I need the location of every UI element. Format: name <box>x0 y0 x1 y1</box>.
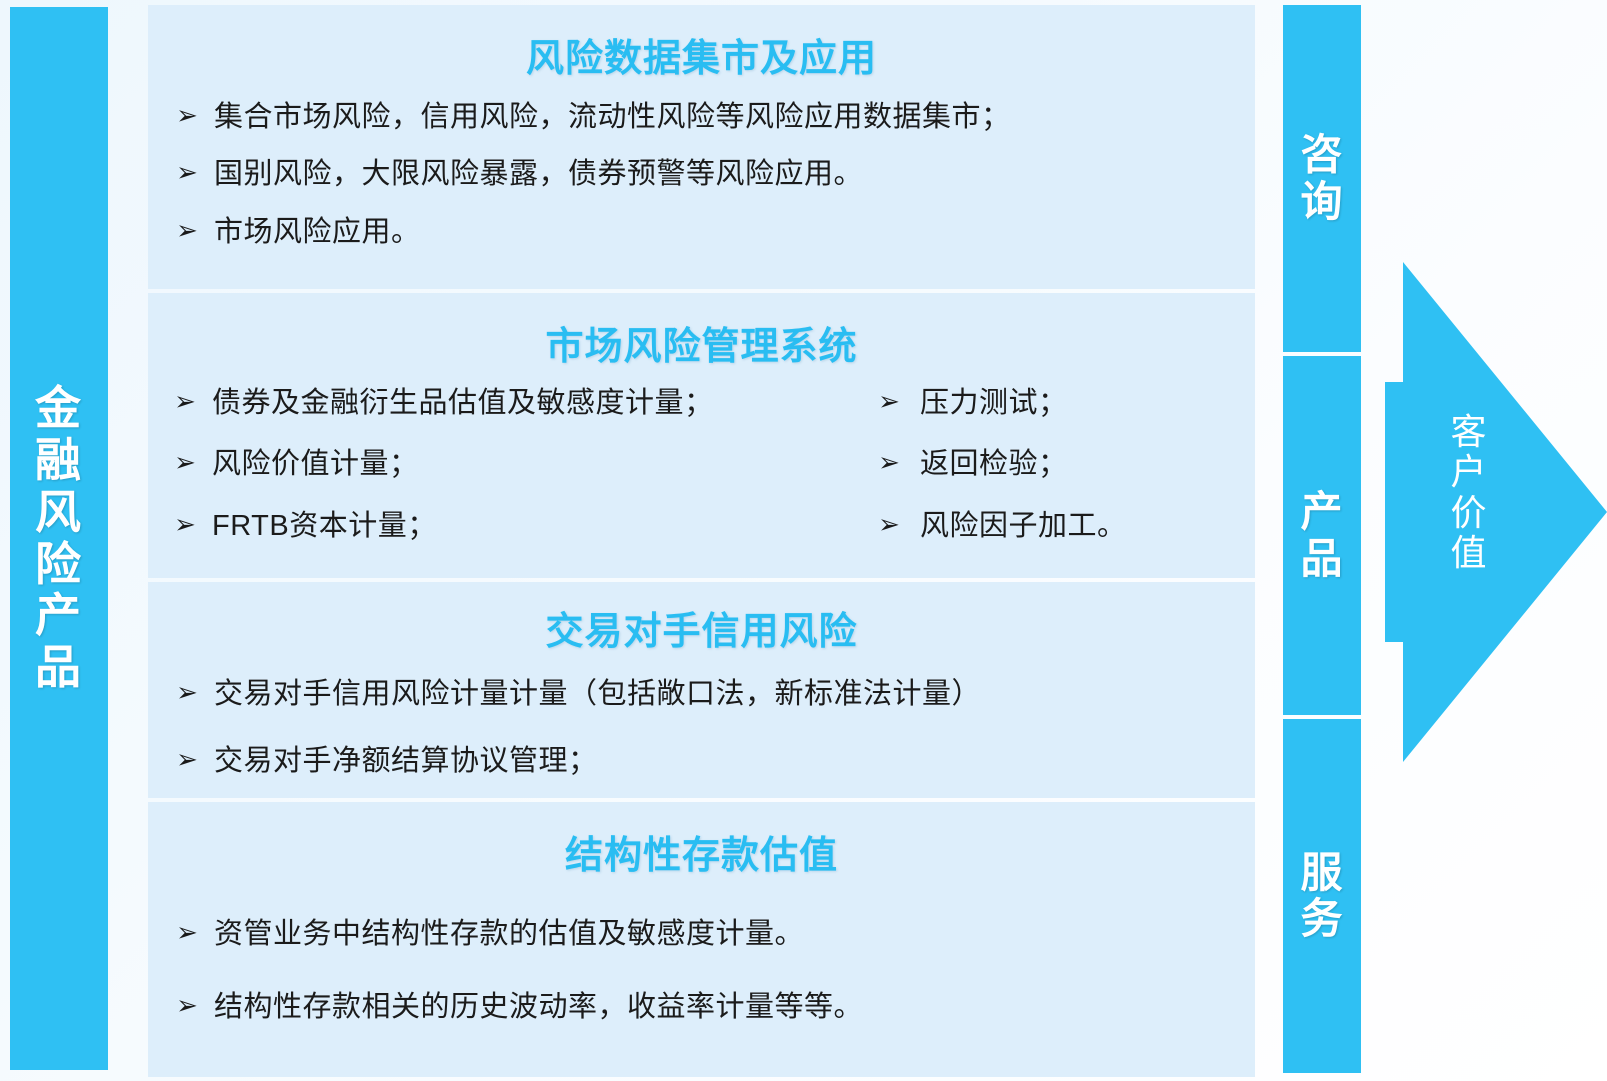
arrow-bullet-icon: ➢ <box>160 677 214 710</box>
bullet-list: ➢ 集合市场风险，信用风险，流动性风险等风险应用数据集市； ➢ 国别风险，大限风… <box>160 100 1255 250</box>
list-item: ➢ 压力测试； <box>858 386 1248 421</box>
arrow-bullet-icon: ➢ <box>158 509 212 542</box>
list-item: ➢ 资管业务中结构性存款的估值及敏感度计量。 <box>160 917 1255 952</box>
panel-title: 结构性存款估值 <box>148 802 1255 879</box>
panel-title: 市场风险管理系统 <box>148 293 1255 370</box>
stage-service: 服务 <box>1283 719 1361 1073</box>
panel-title: 交易对手信用风险 <box>148 582 1255 655</box>
arrow-bullet-icon: ➢ <box>160 744 214 777</box>
bullet-column-left: ➢ 债券及金融衍生品估值及敏感度计量； ➢ 风险价值计量； ➢ FRTB资本计量… <box>158 386 858 570</box>
bullet-column-right: ➢ 压力测试； ➢ 返回检验； ➢ 风险因子加工。 <box>858 386 1248 570</box>
arrow-bullet-icon: ➢ <box>160 215 214 248</box>
content-panel-stack: 风险数据集市及应用 ➢ 集合市场风险，信用风险，流动性风险等风险应用数据集市； … <box>148 5 1255 1077</box>
list-item-text: 集合市场风险，信用风险，流动性风险等风险应用数据集市； <box>214 100 1011 135</box>
list-item-text: 风险因子加工。 <box>920 509 1127 544</box>
list-item: ➢ 交易对手信用风险计量计量（包括敞口法，新标准法计量） <box>160 677 1255 712</box>
arrow-bullet-icon: ➢ <box>858 447 920 480</box>
list-item-text: FRTB资本计量； <box>212 509 437 544</box>
arrow-bullet-icon: ➢ <box>160 917 214 950</box>
right-arrow-icon <box>1385 262 1607 762</box>
list-item-text: 交易对手净额结算协议管理； <box>214 744 598 779</box>
customer-value-label: 客户价值 <box>1443 412 1495 573</box>
list-item: ➢ 集合市场风险，信用风险，流动性风险等风险应用数据集市； <box>160 100 1255 135</box>
panel-structured-deposit-valuation: 结构性存款估值 ➢ 资管业务中结构性存款的估值及敏感度计量。 ➢ 结构性存款相关… <box>148 802 1255 1077</box>
stage-label: 产品 <box>1299 489 1345 581</box>
stage-consulting: 咨询 <box>1283 5 1361 352</box>
bullet-list: ➢ 债券及金融衍生品估值及敏感度计量； ➢ 风险价值计量； ➢ FRTB资本计量… <box>158 386 1255 570</box>
list-item-text: 结构性存款相关的历史波动率，收益率计量等等。 <box>214 990 863 1025</box>
slide-canvas: 金融风险产品 风险数据集市及应用 ➢ 集合市场风险，信用风险，流动性风险等风险应… <box>0 0 1607 1081</box>
left-category-label: 金融风险产品 <box>29 383 89 695</box>
stage-product: 产品 <box>1283 356 1361 715</box>
bullet-list: ➢ 资管业务中结构性存款的估值及敏感度计量。 ➢ 结构性存款相关的历史波动率，收… <box>160 917 1255 1026</box>
list-item: ➢ 返回检验； <box>858 447 1248 482</box>
list-item-text: 资管业务中结构性存款的估值及敏感度计量。 <box>214 917 804 952</box>
stage-label: 服务 <box>1299 850 1345 942</box>
list-item: ➢ 交易对手净额结算协议管理； <box>160 744 1255 779</box>
list-item: ➢ FRTB资本计量； <box>158 509 858 544</box>
arrow-bullet-icon: ➢ <box>160 100 214 133</box>
list-item: ➢ 风险因子加工。 <box>858 509 1248 544</box>
arrow-bullet-icon: ➢ <box>160 990 214 1023</box>
bullet-list: ➢ 交易对手信用风险计量计量（包括敞口法，新标准法计量） ➢ 交易对手净额结算协… <box>160 677 1255 780</box>
arrow-bullet-icon: ➢ <box>858 386 920 419</box>
list-item: ➢ 国别风险，大限风险暴露，债券预警等风险应用。 <box>160 157 1255 192</box>
list-item: ➢ 债券及金融衍生品估值及敏感度计量； <box>158 386 858 421</box>
list-item: ➢ 结构性存款相关的历史波动率，收益率计量等等。 <box>160 990 1255 1025</box>
arrow-bullet-icon: ➢ <box>158 386 212 419</box>
list-item-text: 压力测试； <box>920 386 1068 421</box>
list-item-text: 市场风险应用。 <box>214 215 421 250</box>
panel-counterparty-credit-risk: 交易对手信用风险 ➢ 交易对手信用风险计量计量（包括敞口法，新标准法计量） ➢ … <box>148 582 1255 798</box>
arrow-bullet-icon: ➢ <box>858 509 920 542</box>
list-item-text: 返回检验； <box>920 447 1068 482</box>
panel-market-risk-system: 市场风险管理系统 ➢ 债券及金融衍生品估值及敏感度计量； ➢ 风险价值计量； ➢… <box>148 293 1255 578</box>
panel-title: 风险数据集市及应用 <box>148 5 1255 82</box>
arrow-bullet-icon: ➢ <box>160 157 214 190</box>
stage-column: 咨询 产品 服务 <box>1283 5 1361 1073</box>
list-item-text: 国别风险，大限风险暴露，债券预警等风险应用。 <box>214 157 863 192</box>
list-item: ➢ 市场风险应用。 <box>160 215 1255 250</box>
list-item-text: 风险价值计量； <box>212 447 419 482</box>
customer-value-arrow: 客户价值 <box>1385 262 1607 762</box>
list-item-text: 债券及金融衍生品估值及敏感度计量； <box>212 386 714 421</box>
list-item-text: 交易对手信用风险计量计量（包括敞口法，新标准法计量） <box>214 677 981 712</box>
panel-risk-data-mart: 风险数据集市及应用 ➢ 集合市场风险，信用风险，流动性风险等风险应用数据集市； … <box>148 5 1255 289</box>
list-item: ➢ 风险价值计量； <box>158 447 858 482</box>
left-category-bar: 金融风险产品 <box>10 7 108 1070</box>
arrow-bullet-icon: ➢ <box>158 447 212 480</box>
stage-label: 咨询 <box>1299 132 1345 224</box>
